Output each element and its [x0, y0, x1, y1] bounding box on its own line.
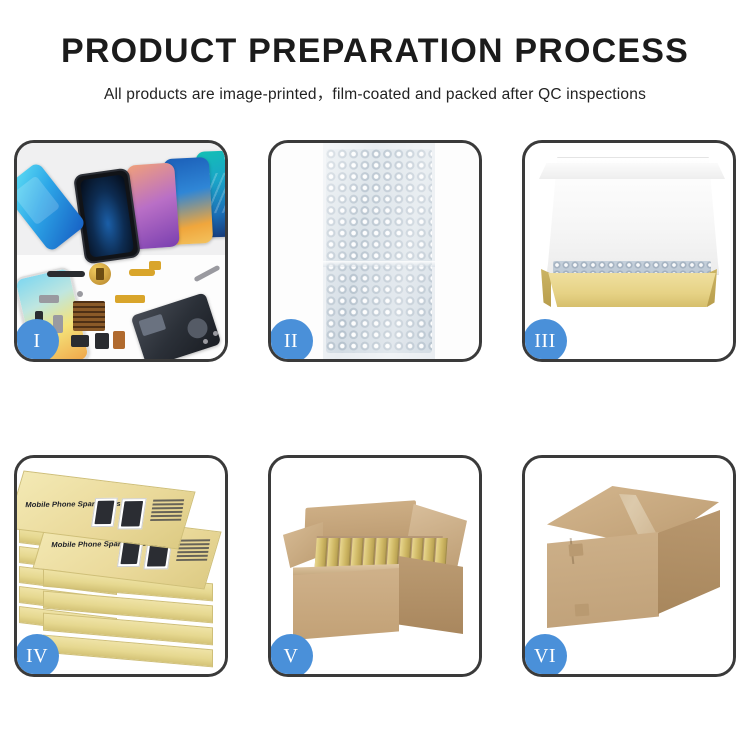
step-badge-2: II	[269, 319, 313, 362]
steps-grid: I II III	[14, 140, 738, 677]
bubble-wrap-sleeve-icon	[323, 143, 435, 359]
earpiece-mesh-icon	[47, 271, 85, 277]
step-badge-5: V	[269, 634, 313, 677]
carton-front-panel-icon	[293, 568, 399, 640]
mailer-front-panel-icon	[543, 273, 721, 307]
carton-tab	[569, 543, 584, 556]
screw-icon	[203, 339, 208, 344]
page-subtitle: All products are image-printed，film-coat…	[0, 82, 750, 104]
step-panel-6[interactable]: VI	[522, 455, 736, 677]
mailer-lid-edge	[539, 163, 725, 179]
speaker-grille-icon	[73, 301, 105, 331]
step-panel-1[interactable]: I	[14, 140, 228, 362]
plastic-sheen	[323, 143, 435, 359]
box-phone-image	[117, 498, 146, 529]
step-panel-3[interactable]: III	[522, 140, 736, 362]
step-badge-4: IV	[15, 634, 59, 677]
carton-side-panel-icon	[399, 556, 463, 634]
product-preparation-infographic: PRODUCT PREPARATION PROCESS All products…	[0, 0, 750, 750]
antenna-flex-icon	[115, 295, 145, 303]
step-panel-2[interactable]: II	[268, 140, 482, 362]
screw-icon	[213, 331, 218, 336]
sealed-carton-front-icon	[547, 532, 659, 628]
camera-module-icon	[95, 333, 109, 349]
box-phone-image	[91, 498, 118, 527]
carton-tab	[575, 604, 590, 617]
step-panel-4[interactable]: Mobile Phone Spare Parts Mobile Phone Sp…	[14, 455, 228, 677]
taptic-engine-icon	[71, 335, 89, 347]
flex-cable-icon	[129, 269, 155, 276]
step-panel-5[interactable]: V	[268, 455, 482, 677]
step-badge-6: VI	[523, 634, 567, 677]
box-spec-lines	[150, 499, 184, 523]
header: PRODUCT PREPARATION PROCESS All products…	[0, 0, 750, 104]
step-badge-1: I	[15, 319, 59, 362]
connector-icon	[149, 261, 161, 270]
box-spec-lines	[176, 539, 210, 563]
page-title: PRODUCT PREPARATION PROCESS	[0, 34, 750, 68]
screw-icon	[77, 291, 83, 297]
vibration-motor-icon	[89, 263, 111, 285]
step-badge-3: III	[523, 319, 567, 362]
battery-connector-icon	[113, 331, 125, 349]
sim-tray-icon	[39, 295, 59, 303]
